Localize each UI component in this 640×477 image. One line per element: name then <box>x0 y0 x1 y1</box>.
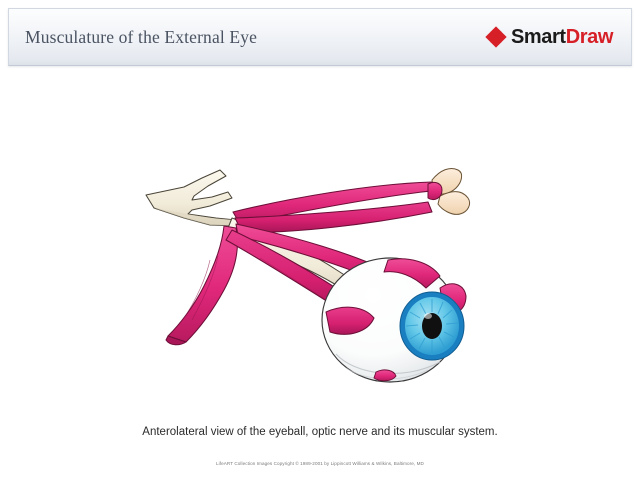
iris-and-pupil <box>400 292 464 360</box>
page-title: Musculature of the External Eye <box>25 27 257 48</box>
tendon-insertion <box>428 168 470 214</box>
brand-word-smart: Smart <box>511 26 566 48</box>
figure-caption: Anterolateral view of the eyeball, optic… <box>0 426 640 438</box>
smartdraw-logo[interactable]: SmartDraw <box>487 27 613 47</box>
diamond-cluster-icon <box>487 28 505 46</box>
copyright-notice: LifeART Collection Images Copyright © 19… <box>0 461 640 466</box>
eye-anatomy-svg <box>140 140 520 390</box>
iris-highlight <box>424 313 432 319</box>
slide-header-bar: Musculature of the External Eye SmartDra… <box>8 8 632 66</box>
anterolateral-eyeball-muscles-illustration <box>140 140 520 390</box>
superior-oblique-muscle <box>166 226 238 345</box>
brand-word-draw: Draw <box>566 26 613 48</box>
brand-wordmark: SmartDraw <box>511 27 613 47</box>
